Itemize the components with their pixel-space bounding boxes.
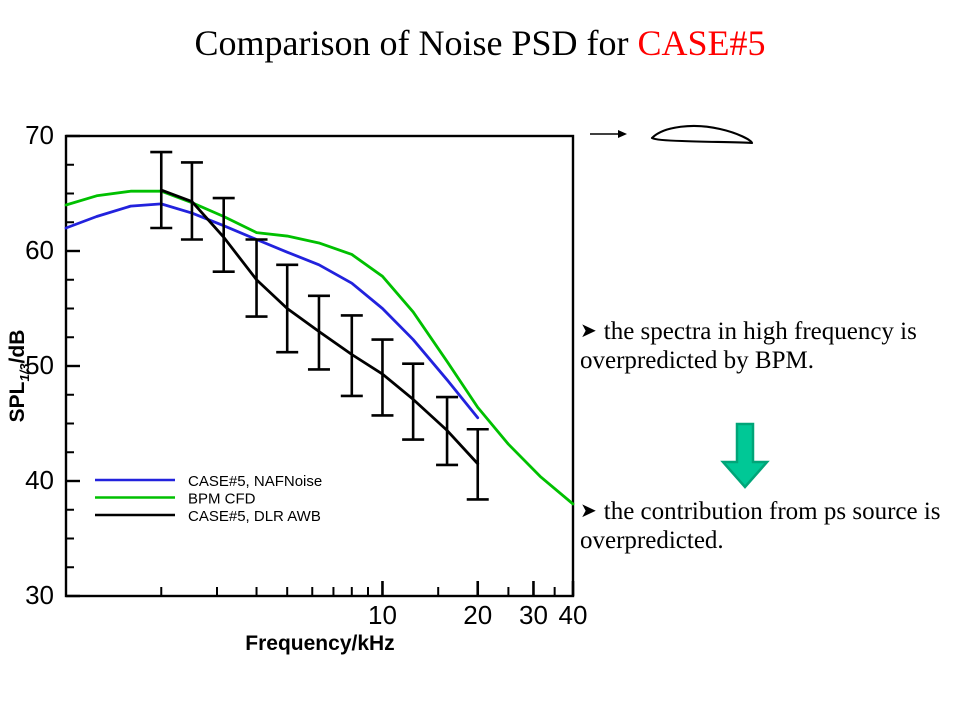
noise-psd-chart: 304050607010203040Frequency/kHzSPL1/3/dB… — [0, 100, 600, 660]
flow-direction-arrow — [590, 130, 627, 138]
bullet-item-2: ➤the contribution from ps source is over… — [580, 498, 952, 555]
series-line — [66, 204, 478, 418]
bullet-item-1: ➤the spectra in high frequency is overpr… — [580, 318, 952, 375]
x-axis-tick-label: 10 — [368, 600, 397, 630]
y-axis-tick-label: 70 — [25, 120, 54, 150]
airfoil-cross-section — [652, 126, 752, 143]
x-axis-tick-label: 30 — [519, 600, 548, 630]
chart-svg: 304050607010203040Frequency/kHzSPL1/3/dB… — [0, 100, 600, 660]
page-title-accent: CASE#5 — [637, 23, 765, 63]
y-axis-tick-label: 60 — [25, 235, 54, 265]
legend-label: CASE#5, DLR AWB — [188, 508, 321, 525]
y-axis-tick-label: 30 — [25, 580, 54, 610]
slide-canvas: Comparison of Noise PSD for CASE#5 30405… — [0, 0, 960, 720]
y-axis-tick-label: 40 — [25, 465, 54, 495]
green-down-arrow-svg — [715, 420, 775, 492]
x-axis-tick-label: 20 — [463, 600, 492, 630]
legend-label: BPM CFD — [188, 491, 256, 508]
airfoil-svg — [586, 112, 786, 168]
bullet-text-2: the contribution from ps source is overp… — [580, 498, 941, 554]
airfoil-illustration — [586, 112, 786, 168]
x-axis-title: Frequency/kHz — [245, 632, 394, 655]
x-axis-tick-label: 40 — [559, 600, 588, 630]
bullet-marker-icon: ➤ — [580, 319, 597, 342]
page-title: Comparison of Noise PSD for CASE#5 — [0, 22, 960, 64]
legend-label: CASE#5, NAFNoise — [188, 473, 322, 490]
bullet-marker-icon: ➤ — [580, 499, 597, 522]
page-title-main: Comparison of Noise PSD for — [194, 23, 637, 63]
y-axis-title: SPL1/3/dB — [6, 330, 32, 423]
green-down-arrow — [715, 420, 775, 492]
bullet-text-1: the spectra in high frequency is overpre… — [580, 318, 917, 374]
